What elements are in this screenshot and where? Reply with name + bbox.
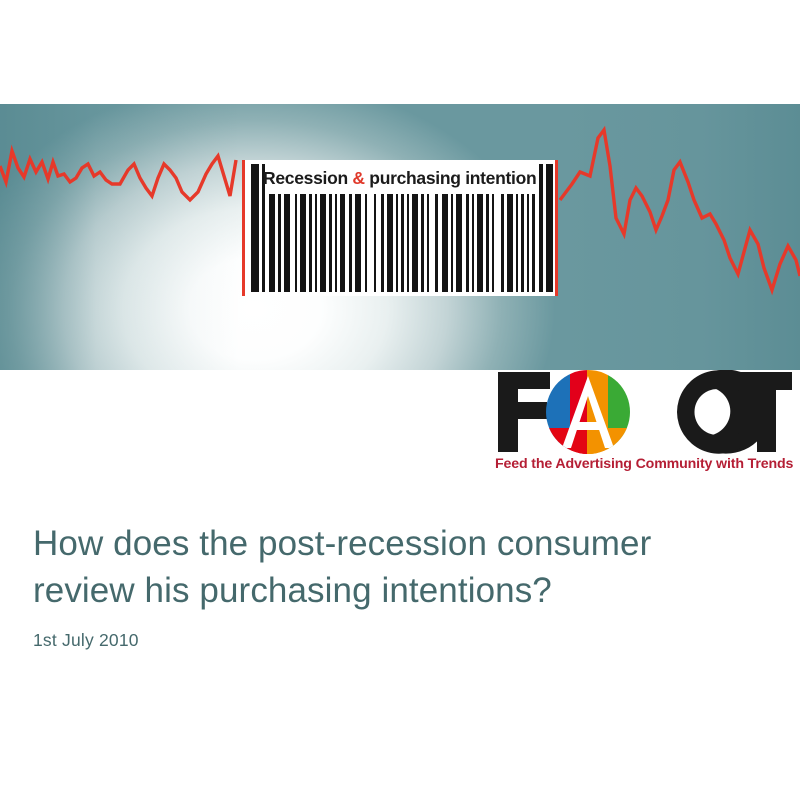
barcode-title-part-1: Recession [263,168,352,188]
fact-logo-mark [492,370,792,454]
logo-a-white-crossbar [574,422,602,430]
barcode-graphic: Recession & purchasing intention [239,160,561,296]
fact-logo: Feed the Advertising Community with Tren… [492,370,792,478]
page-date: 1st July 2010 [33,630,763,651]
barcode-title-text: Recession & purchasing intention [263,166,541,190]
logo-a-colored-circle [546,370,632,454]
hero-banner: Recession & purchasing intention [0,104,800,370]
logo-letter-t-bar [741,372,792,390]
logo-a-white-right-gap [620,440,632,454]
title-block: How does the post-recession consumer rev… [33,520,763,651]
logo-letter-f [498,372,550,452]
fact-logo-tagline: Feed the Advertising Community with Tren… [495,456,791,472]
market-line-right [560,130,800,290]
market-line-left [0,151,236,200]
barcode-title-part-2: purchasing intention [365,168,537,188]
barcode-title-ampersand: & [352,168,364,188]
page-title: How does the post-recession consumer rev… [33,520,763,614]
logo-a-white-left-gap [546,440,554,454]
